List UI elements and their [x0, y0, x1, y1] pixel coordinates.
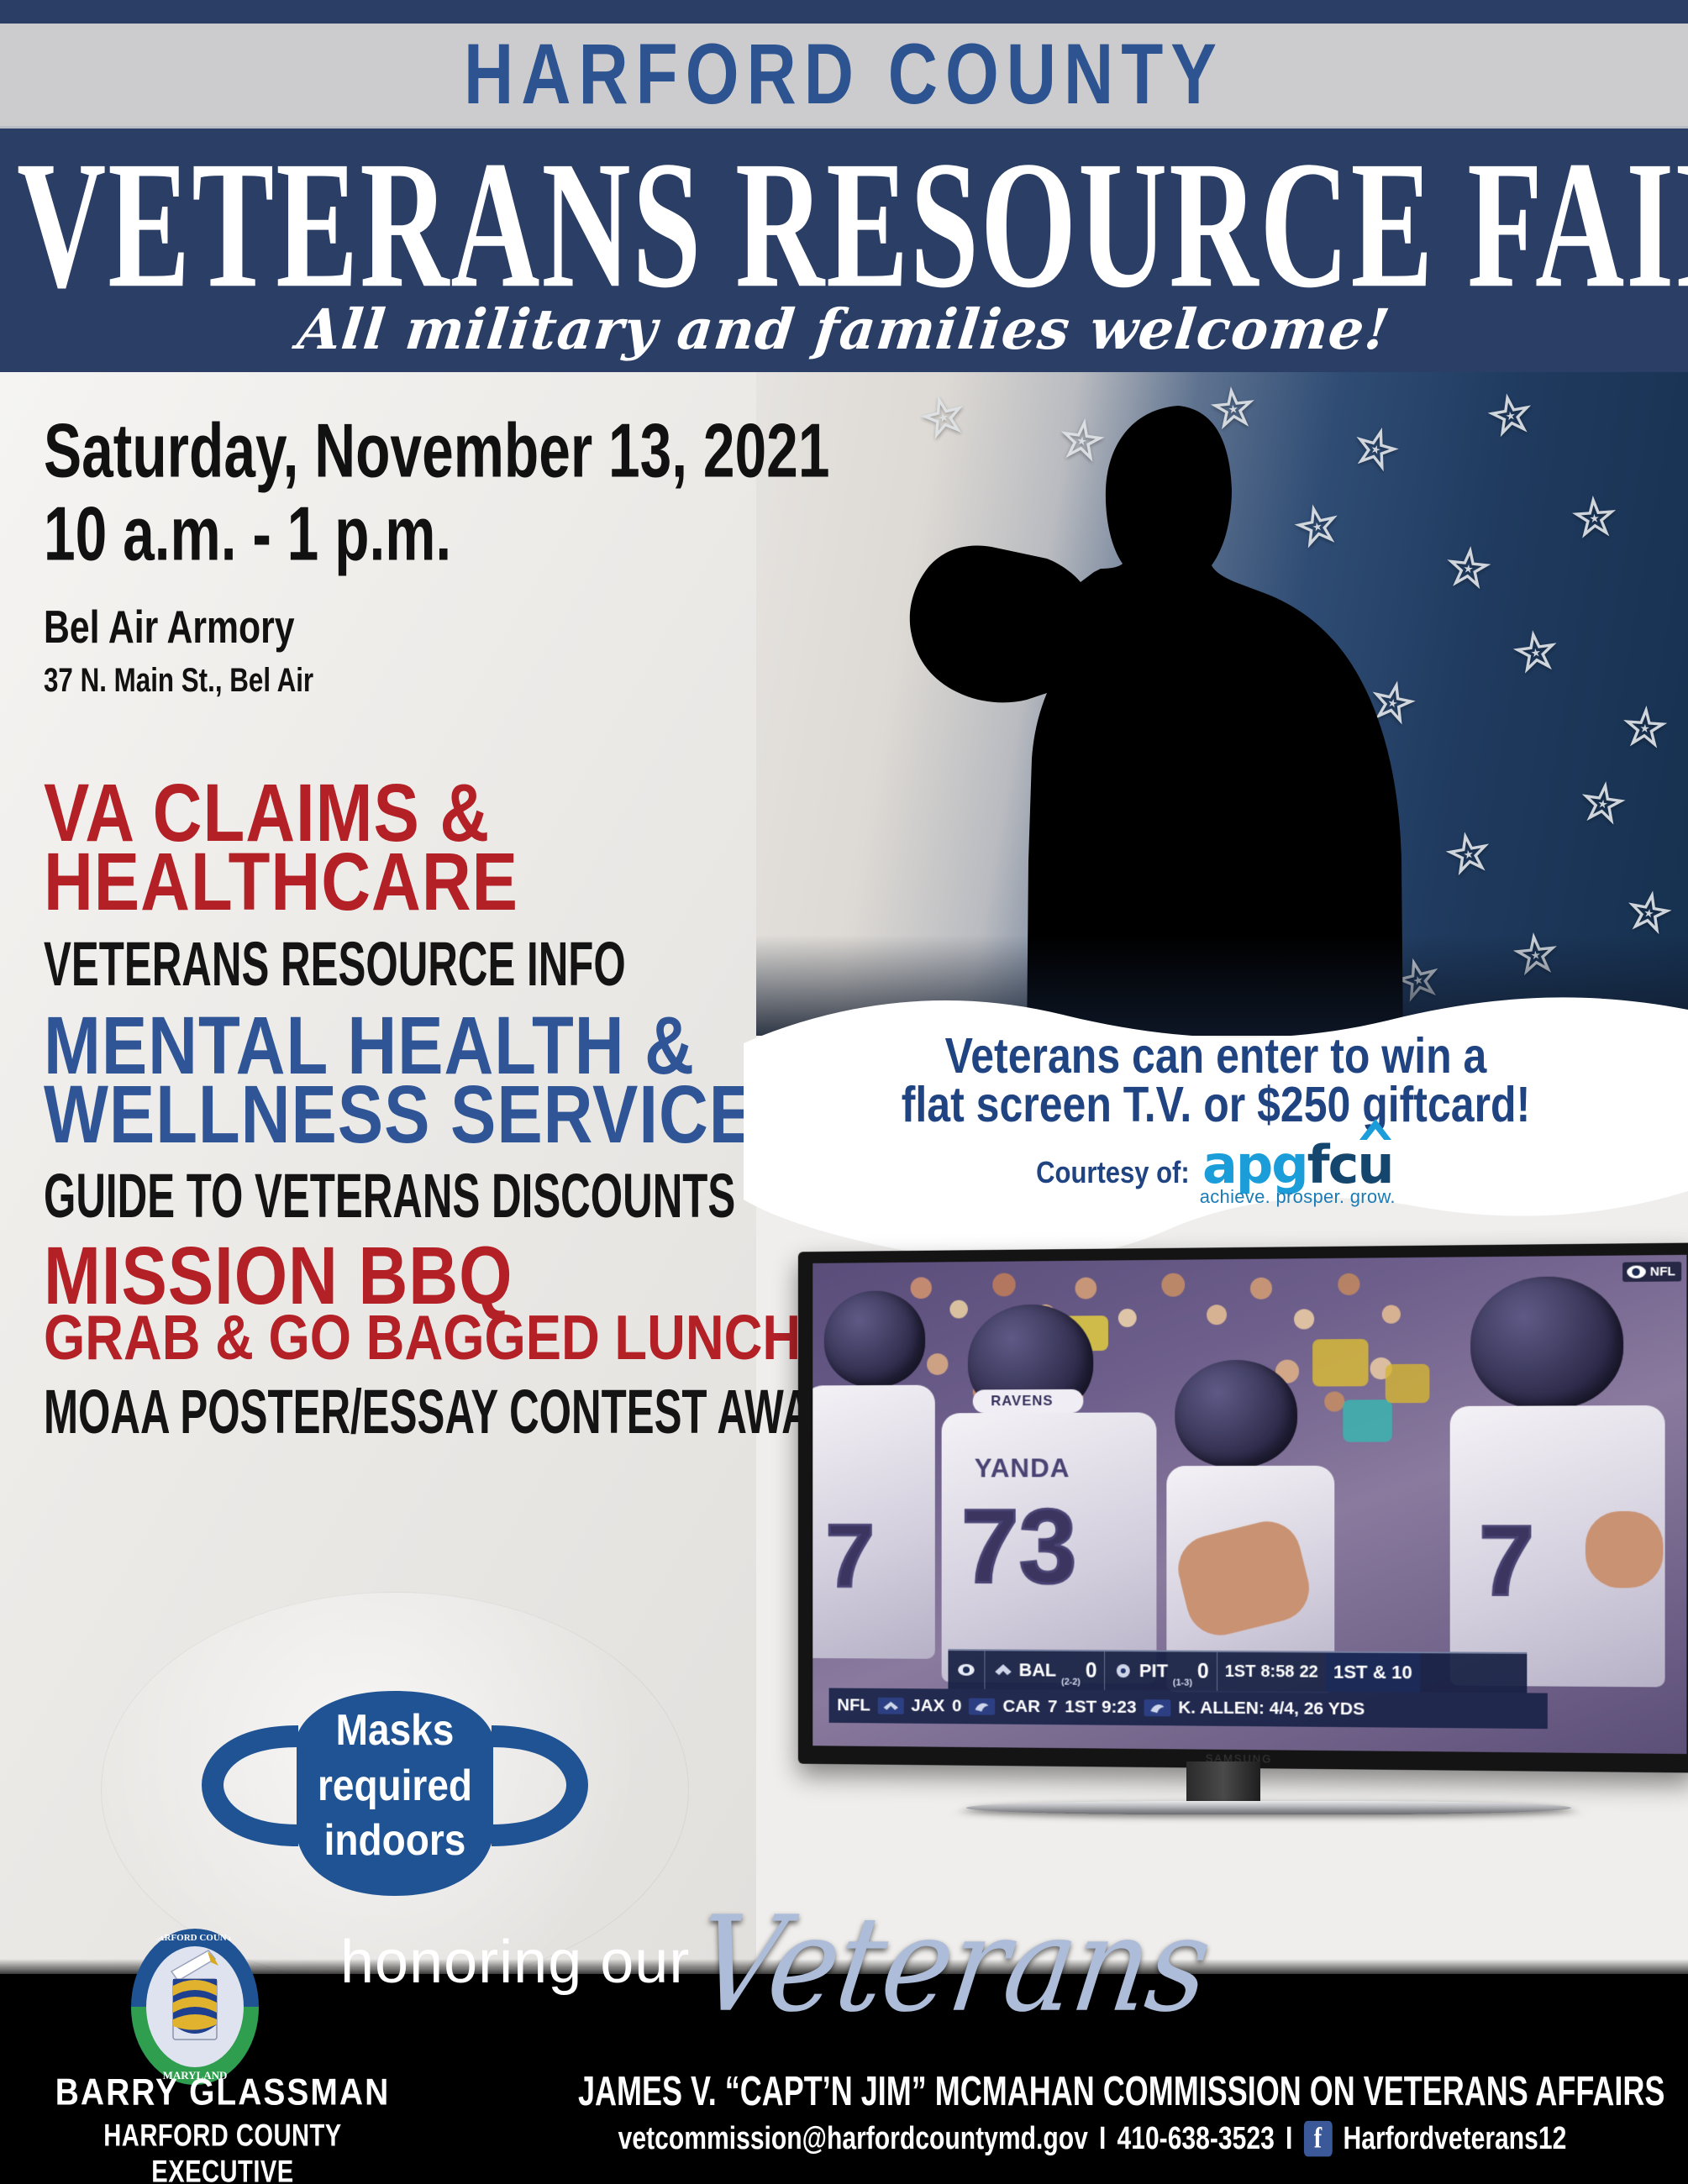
executive-name: BARRY GLASSMAN [46, 2072, 399, 2114]
ticker-status: 1ST 9:23 [1065, 1697, 1136, 1718]
game-clock: 8:58 [1260, 1662, 1294, 1682]
nfl-label: NFL [1650, 1264, 1675, 1279]
score-home: PIT (1-3) 0 [1105, 1651, 1216, 1691]
page-subtitle: All military and families welcome! [0, 297, 1688, 362]
scoreboard: BAL (2-2) 0 PIT (1-3) 0 [948, 1649, 1527, 1693]
play-clock: 22 [1300, 1662, 1318, 1682]
page-title: VETERANS RESOURCE FAIR [17, 134, 1671, 317]
event-date: Saturday, November 13, 2021 [44, 413, 723, 491]
score-clock: 1ST 8:58 22 [1217, 1652, 1326, 1692]
away-team-record: (2-2) [1061, 1677, 1081, 1690]
score-away: BAL (2-2) 0 [985, 1651, 1104, 1690]
ticker-score-2: 7 [1048, 1697, 1058, 1717]
facebook-icon[interactable]: f [1303, 2120, 1332, 2155]
service-va-claims-line2: HEALTHCARE [44, 842, 777, 921]
cbs-eye-icon-small [955, 1662, 976, 1678]
courtesy-label: Courtesy of: [1036, 1155, 1190, 1211]
prize-banner-text: Veterans can enter to win a flat screen … [744, 966, 1688, 1268]
veterans-script-text: Veterans [686, 1888, 1217, 2042]
masks-required-badge: Masks required indoors [172, 1659, 618, 1911]
steelers-logo-icon [1112, 1662, 1134, 1679]
tv-bezel: 7 RAVENS YANDA 73 [798, 1242, 1688, 1772]
contact-info-row: vetcommission@harfordcountymd.gov I 410-… [555, 2120, 1629, 2157]
county-band: HARFORD COUNTY [0, 24, 1688, 126]
seal-top-text: HARFORD COUNTY [150, 1933, 239, 1943]
away-team-score: 0 [1086, 1658, 1097, 1683]
county-name: HARFORD COUNTY [464, 25, 1224, 124]
tv-stand-neck [1186, 1761, 1260, 1802]
player-left-number: 7 [826, 1511, 875, 1600]
mask-badge-text: Masks required indoors [172, 1644, 618, 1926]
event-time: 10 a.m. - 1 p.m. [44, 496, 723, 575]
harford-county-seal: HARFORD COUNTY MARYLAND [128, 1925, 262, 2089]
service-moaa-contest-awards: MOAA POSTER/ESSAY CONTEST AWARDS [44, 1381, 709, 1443]
sponsor-row: Courtesy of: apgfcu achieve. prosper. gr… [744, 1139, 1688, 1208]
ticker-score-1: 0 [952, 1696, 961, 1716]
service-mental-health-line2: WELLNESS SERVICES [44, 1074, 777, 1154]
game-quarter: 1ST [1225, 1662, 1256, 1681]
mask-line-1: Masks [336, 1702, 455, 1757]
service-veterans-resource-info: VETERANS RESOURCE INFO [44, 933, 709, 995]
panthers-logo-icon [969, 1698, 995, 1715]
services-list: VA CLAIMS & HEALTHCARE VETERANS RESOURCE… [44, 773, 800, 1428]
flag-silhouette-photo: ✮ ✮ ✮ ✮ ✮ ✮ ✮ ✮ ✮ ✮ ✮ ✮ ✮ ✮ ✮ ✮ ✮ ✮ ✮ [706, 372, 1688, 1036]
event-address: 37 N. Main St., Bel Air [44, 661, 730, 700]
title-band: VETERANS RESOURCE FAIR All military and … [0, 126, 1688, 372]
contact-separator-1: I [1099, 2120, 1106, 2157]
honoring-text: honoring our [340, 1928, 690, 1997]
broadcast-logo: NFL [1622, 1262, 1681, 1282]
prize-line-2: flat screen T.V. or $250 giftcard! [744, 1076, 1688, 1133]
event-details: Saturday, November 13, 2021 10 a.m. - 1 … [44, 413, 766, 693]
jaguars-logo-icon [878, 1698, 904, 1714]
ticker-league: NFL [837, 1695, 870, 1715]
executive-title: HARFORD COUNTY EXECUTIVE [57, 2118, 389, 2184]
home-team-record: (1-3) [1173, 1677, 1192, 1690]
top-navy-stripe [0, 0, 1688, 24]
tv-screen: 7 RAVENS YANDA 73 [812, 1255, 1686, 1754]
contact-separator-2: I [1286, 2120, 1292, 2157]
mask-line-3: indoors [324, 1813, 466, 1868]
contact-phone[interactable]: 410-638-3523 [1117, 2120, 1274, 2157]
service-bagged-lunch: GRAB & GO BAGGED LUNCH [44, 1305, 770, 1368]
apgfcu-logo: apgfcu achieve. prosper. grow. [1200, 1139, 1396, 1208]
service-veterans-discounts: GUIDE TO VETERANS DISCOUNTS [44, 1165, 709, 1227]
commission-name: JAMES V. “CAPT’N JIM” MCMAHAN COMMISSION… [578, 2069, 1606, 2115]
home-team-abbr: PIT [1139, 1660, 1168, 1682]
prize-banner: Veterans can enter to win a flat screen … [744, 966, 1688, 1268]
ticker-note: K. ALLEN: 4/4, 26 YDS [1178, 1698, 1365, 1719]
home-team-score: 0 [1197, 1659, 1209, 1683]
score-down-distance: 1ST & 10 [1326, 1653, 1420, 1693]
veterans-resource-fair-poster: ✮ ✮ ✮ ✮ ✮ ✮ ✮ ✮ ✮ ✮ ✮ ✮ ✮ ✮ ✮ ✮ ✮ ✮ ✮ [0, 0, 1688, 2184]
facebook-handle[interactable]: Harfordveterans12 [1343, 2120, 1566, 2157]
flat-screen-tv: 7 RAVENS YANDA 73 [790, 1247, 1688, 1802]
score-network-badge [948, 1651, 984, 1689]
player-right-number: 7 [1479, 1511, 1534, 1609]
ticker-team-2: CAR [1002, 1697, 1040, 1717]
panthers-logo-icon-2 [1144, 1699, 1171, 1716]
helmet-team-label: RAVENS [991, 1393, 1053, 1410]
event-venue: Bel Air Armory [44, 601, 730, 654]
contact-email[interactable]: vetcommission@harfordcountymd.gov [618, 2120, 1088, 2157]
ticker-team-1: JAX [911, 1696, 944, 1716]
apgfcu-caret-icon [1359, 1119, 1391, 1140]
away-team-abbr: BAL [1019, 1659, 1056, 1681]
cbs-eye-icon [1627, 1265, 1646, 1278]
ravens-logo-icon [992, 1662, 1013, 1678]
tv-stand-base [961, 1801, 1576, 1814]
apgfcu-tagline: achieve. prosper. grow. [1200, 1186, 1396, 1208]
score-ticker: NFL JAX 0 CAR 7 1ST 9:23 K. ALLEN: [829, 1688, 1548, 1730]
player-jersey-name: YANDA [975, 1452, 1070, 1483]
player-jersey-number: 73 [961, 1494, 1077, 1599]
mask-line-2: required [318, 1757, 472, 1813]
